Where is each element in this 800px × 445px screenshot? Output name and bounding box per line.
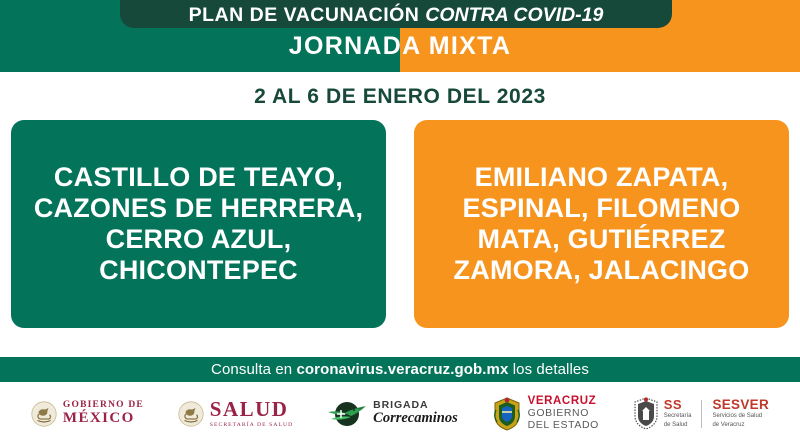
- brigada-line2: Correcaminos: [373, 411, 458, 426]
- logo-strip: GOBIERNO DE MÉXICO SALUD SECRETARÍA DE S…: [0, 382, 800, 445]
- consulta-suffix: los detalles: [508, 361, 589, 378]
- salud-line2: SECRETARÍA DE SALUD: [210, 422, 294, 428]
- gobierno-mexico-wordmark: GOBIERNO DE MÉXICO: [63, 401, 144, 427]
- logo-divider: [701, 400, 702, 428]
- ss-line2: Secretaría: [664, 413, 692, 420]
- logo-salud: SALUD SECRETARÍA DE SALUD: [178, 399, 294, 428]
- logo-veracruz-gobierno: VERACRUZ GOBIERNO DEL ESTADO: [492, 395, 599, 431]
- sesver-line3: de Veracruz: [712, 422, 769, 429]
- mexico-eagle-seal-icon-salud: [178, 401, 204, 427]
- mexico-eagle-seal-icon: [31, 401, 57, 427]
- logo-gobierno-mexico: GOBIERNO DE MÉXICO: [31, 401, 144, 427]
- consulta-prefix: Consulta en: [211, 361, 296, 378]
- ss-wordmark: SS Secretaría de Salud: [664, 398, 692, 429]
- veracruz-wordmark: VERACRUZ GOBIERNO DEL ESTADO: [528, 395, 599, 431]
- gobierno-line2: MÉXICO: [63, 411, 144, 426]
- roadrunner-bird-icon: [327, 399, 367, 429]
- plan-title-emphasis: CONTRA COVID-19: [425, 4, 603, 26]
- municipality-box-left: CASTILLO DE TEAYO, CAZONES DE HERRERA, C…: [11, 120, 386, 328]
- title-banner: PLAN DE VACUNACIÓN CONTRA COVID-19: [120, 0, 672, 28]
- consulta-url[interactable]: coronavirus.veracruz.gob.mx: [296, 361, 508, 378]
- sesver-line1: SESVER: [712, 398, 769, 412]
- municipality-box-right: EMILIANO ZAPATA, ESPINAL, FILOMENO MATA,…: [414, 120, 789, 328]
- veracruz-line3: DEL ESTADO: [528, 420, 599, 432]
- plan-title: PLAN DE VACUNACIÓN CONTRA COVID-19: [189, 6, 604, 26]
- salud-wordmark: SALUD SECRETARÍA DE SALUD: [210, 399, 294, 428]
- consulta-text: Consulta en coronavirus.veracruz.gob.mx …: [211, 361, 589, 378]
- consulta-band: Consulta en coronavirus.veracruz.gob.mx …: [0, 357, 800, 382]
- logo-ss-sesver: SS Secretaría de Salud SESVER Servicios …: [633, 397, 769, 431]
- sesver-wordmark: SESVER Servicios de Salud de Veracruz: [712, 398, 769, 430]
- salud-line1: SALUD: [210, 399, 294, 420]
- ss-line1: SS: [664, 398, 692, 411]
- veracruz-shield-icon: [633, 397, 659, 431]
- jornada-subtitle: JORNADA MIXTA: [0, 34, 800, 59]
- gobierno-line1: GOBIERNO DE: [63, 401, 144, 411]
- veracruz-coat-of-arms-icon: [492, 396, 522, 432]
- sesver-line2: Servicios de Salud: [712, 413, 769, 420]
- ss-line3: de Salud: [664, 422, 692, 429]
- brigada-wordmark: BRIGADA Correcaminos: [373, 400, 458, 426]
- logo-brigada-correcaminos: BRIGADA Correcaminos: [327, 399, 458, 429]
- plan-title-prefix: PLAN DE VACUNACIÓN: [189, 4, 426, 26]
- date-range-text: 2 AL 6 DE ENERO DEL 2023: [0, 85, 800, 109]
